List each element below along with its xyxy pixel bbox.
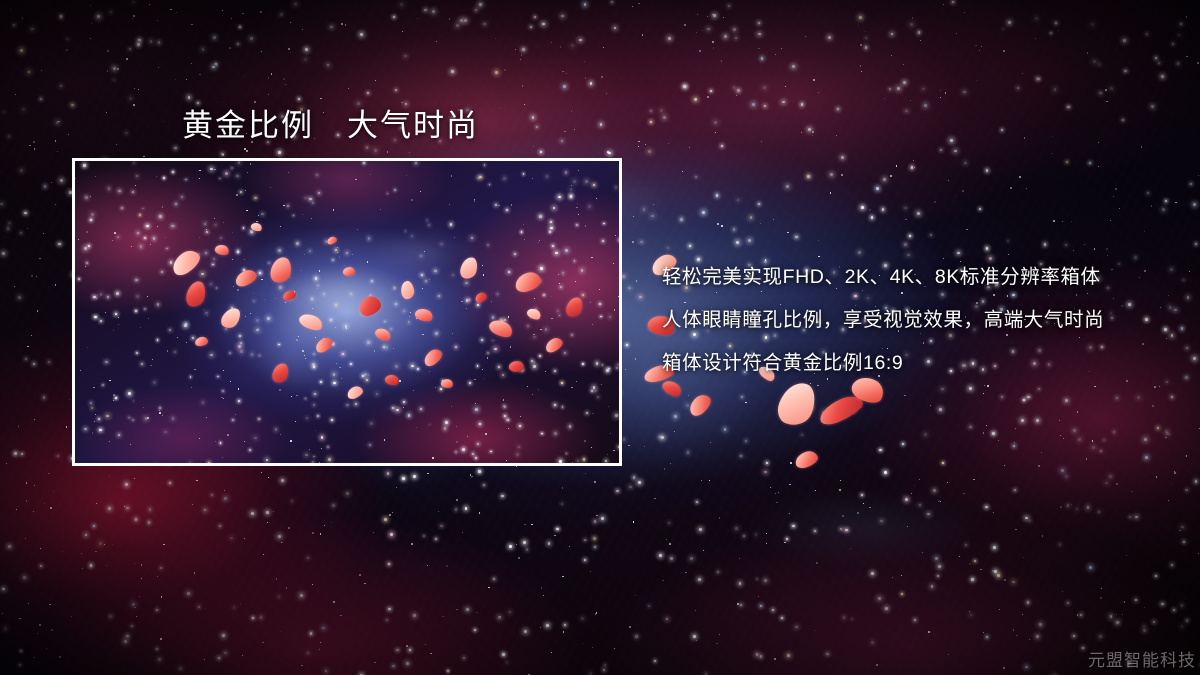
slide-canvas: 黄金比例 大气时尚 轻松完美实现FHD、2K、4K、8K标准分辨率箱体 人体眼睛… [0, 0, 1200, 675]
description-line-3: 箱体设计符合黄金比例16:9 [662, 342, 1182, 385]
page-title: 黄金比例 大气时尚 [182, 100, 479, 145]
description-line-2: 人体眼睛瞳孔比例，享受视觉效果，高端大气时尚 [662, 299, 1182, 342]
panel-nebula-wisps [75, 161, 619, 463]
feature-description-block: 轻松完美实现FHD、2K、4K、8K标准分辨率箱体 人体眼睛瞳孔比例，享受视觉效… [662, 256, 1182, 385]
preview-image-frame[interactable] [72, 158, 622, 466]
description-line-1: 轻松完美实现FHD、2K、4K、8K标准分辨率箱体 [662, 256, 1182, 299]
watermark-text: 元盟智能科技 [1088, 646, 1196, 671]
